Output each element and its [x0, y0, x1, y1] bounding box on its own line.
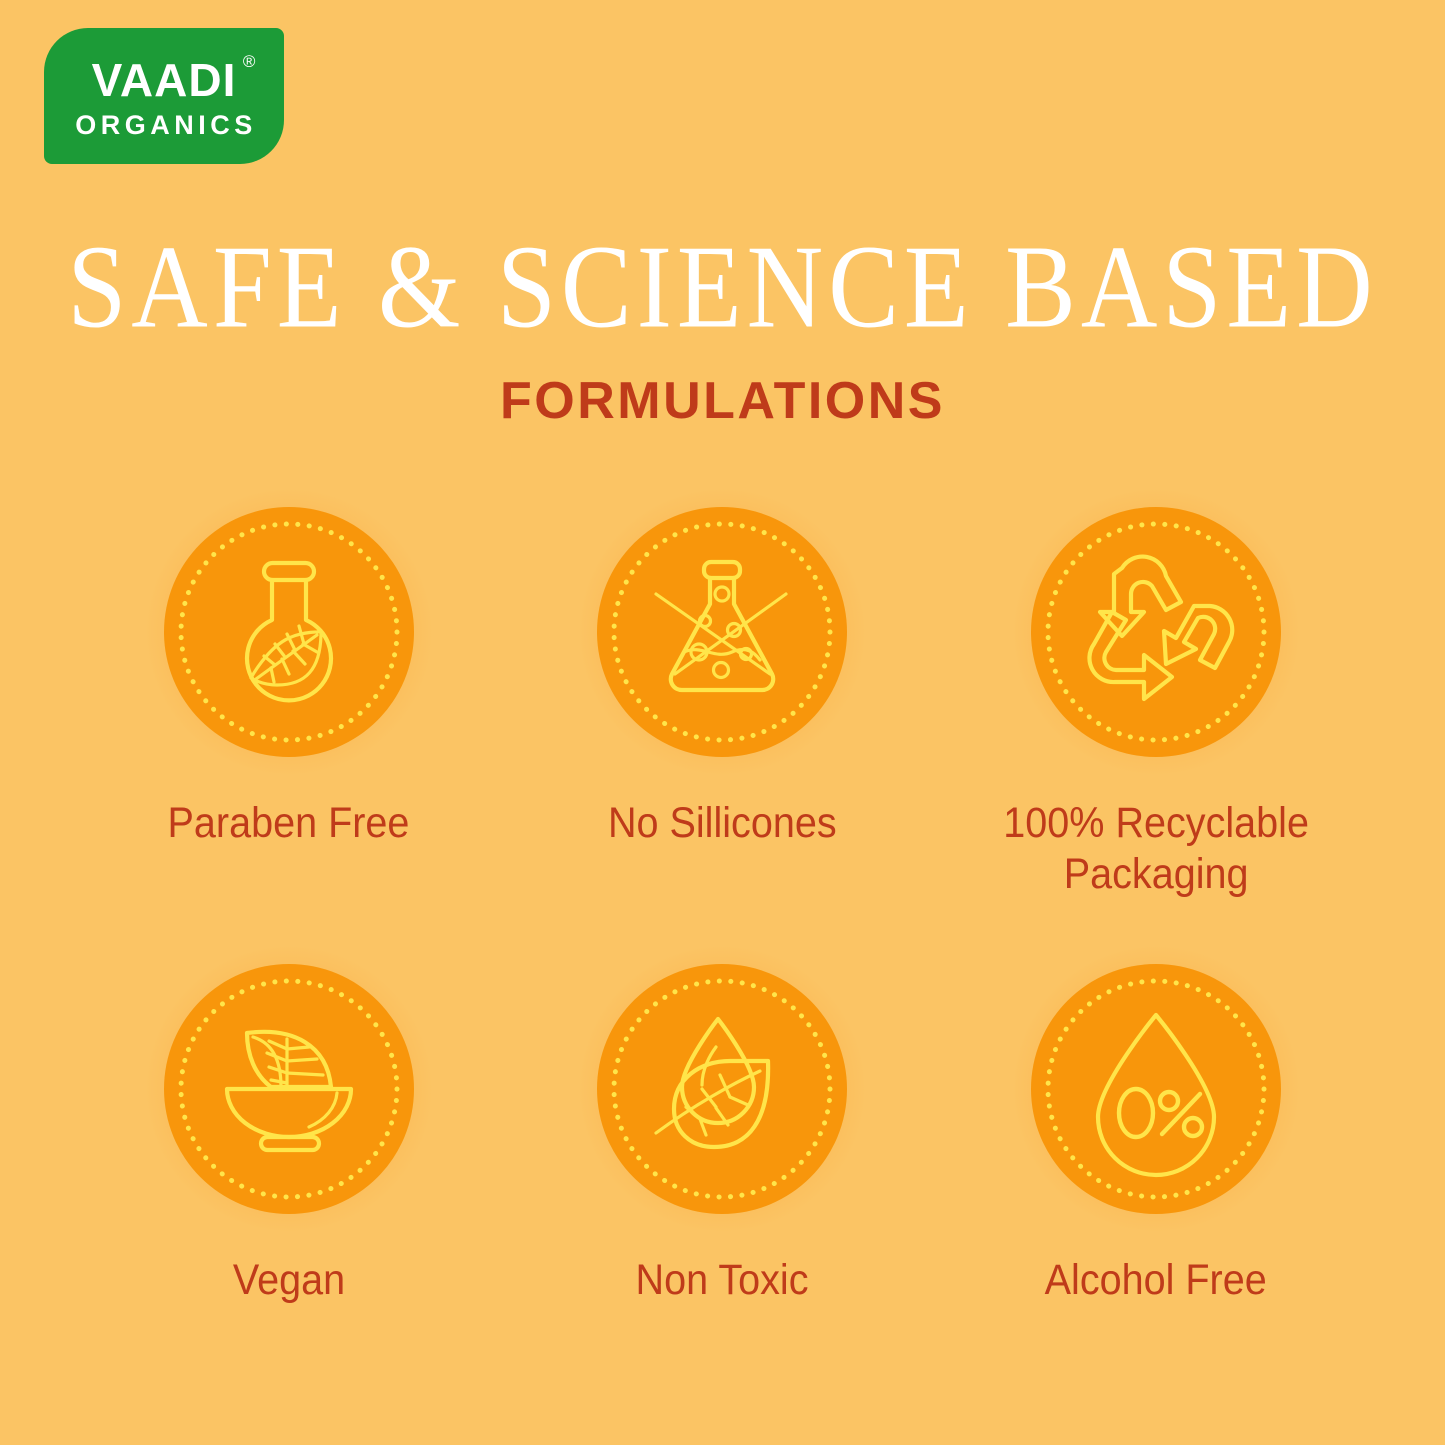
feature-item-no-sillicones: No Sillicones — [506, 488, 940, 899]
feature-label: No Sillicones — [608, 798, 837, 849]
feature-label: 100% Recyclable Packaging — [1003, 798, 1309, 899]
flask-crossed-out-icon — [642, 552, 802, 712]
brand-tagline: ORGANICS — [71, 112, 257, 139]
brand-name-text: VAADI — [92, 54, 237, 106]
feature-badge — [145, 488, 433, 776]
feature-item-paraben-free: Paraben Free — [72, 488, 506, 899]
feature-item-vegan: Vegan — [72, 945, 506, 1306]
feature-badge — [1012, 488, 1300, 776]
feature-badge — [145, 945, 433, 1233]
feature-grid: Paraben Free — [72, 488, 1373, 1306]
registered-trademark-icon: ® — [243, 53, 257, 70]
droplet-leaf-icon — [642, 1009, 802, 1169]
feature-item-recyclable-packaging: 100% Recyclable Packaging — [939, 488, 1373, 899]
flask-leaf-icon — [209, 552, 369, 712]
page-title: SAFE & SCIENCE BASED — [0, 228, 1445, 347]
feature-label: Alcohol Free — [1045, 1255, 1267, 1306]
brand-logo: VAADI ® ORGANICS — [44, 28, 284, 164]
feature-label: Vegan — [233, 1255, 345, 1306]
feature-badge — [1012, 945, 1300, 1233]
badge-disc — [597, 964, 847, 1214]
badge-disc — [597, 507, 847, 757]
bowl-leaf-icon — [209, 1009, 369, 1169]
feature-label: Paraben Free — [168, 798, 410, 849]
page-subtitle: FORMULATIONS — [0, 375, 1445, 427]
recycle-icon — [1076, 552, 1236, 712]
droplet-zero-percent-icon — [1076, 1009, 1236, 1169]
badge-disc — [1031, 507, 1281, 757]
feature-label: Non Toxic — [636, 1255, 809, 1306]
badge-disc — [164, 964, 414, 1214]
badge-disc — [164, 507, 414, 757]
badge-disc — [1031, 964, 1281, 1214]
feature-item-non-toxic: Non Toxic — [506, 945, 940, 1306]
brand-name: VAADI ® — [92, 57, 237, 103]
feature-badge — [578, 488, 866, 776]
feature-badge — [578, 945, 866, 1233]
feature-item-alcohol-free: Alcohol Free — [939, 945, 1373, 1306]
